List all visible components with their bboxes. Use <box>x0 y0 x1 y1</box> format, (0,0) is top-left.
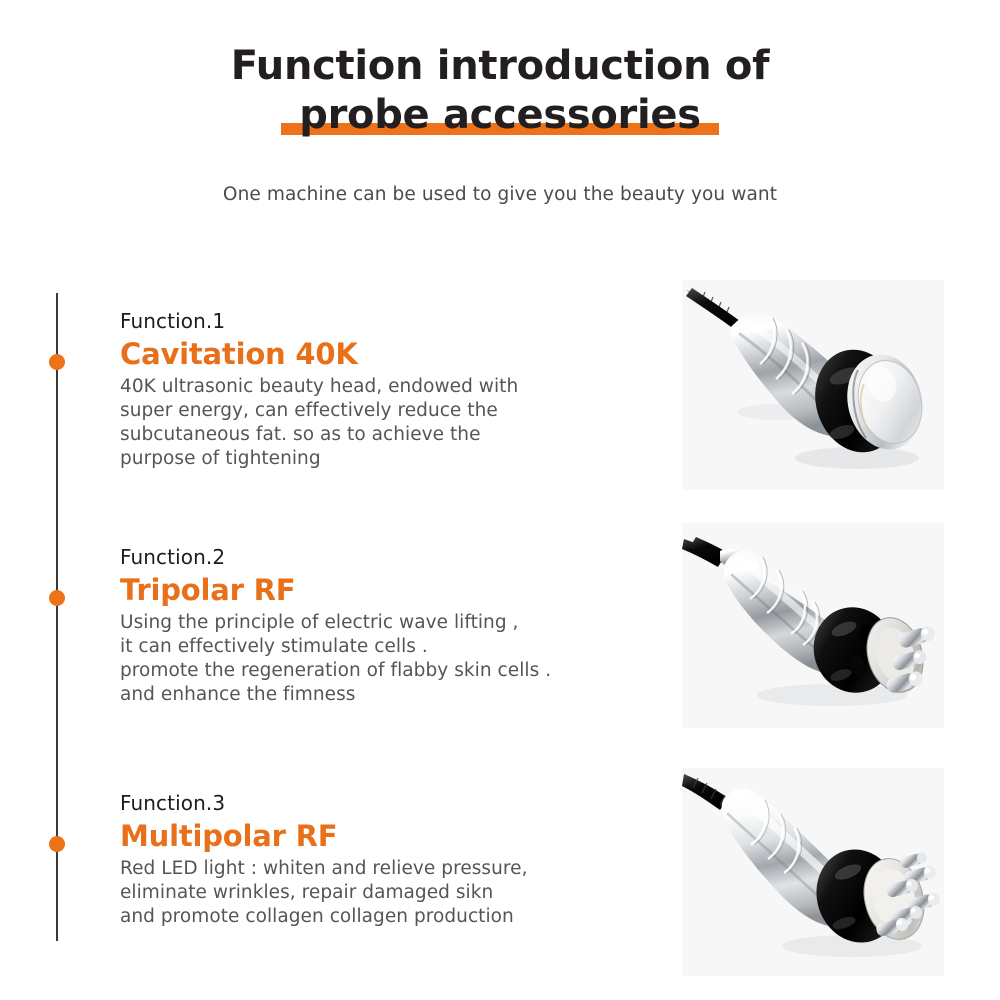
tripolar-rf-probe-icon <box>682 523 944 728</box>
function-2-kicker: Function.2 <box>120 544 665 570</box>
function-block-1: Function.1 Cavitation 40K 40K ultrasonic… <box>120 308 665 471</box>
product-image-card-1 <box>682 280 944 490</box>
timeline-dot-2 <box>49 590 65 606</box>
title-line-2-container: probe accessories <box>0 91 1000 140</box>
function-1-description: 40K ultrasonic beauty head, endowed with… <box>120 375 665 471</box>
product-image-card-3 <box>682 768 944 976</box>
cavitation-40k-probe-icon <box>682 280 944 490</box>
function-3-title: Multipolar RF <box>120 817 665 855</box>
page-title: Function introduction of probe accessori… <box>0 42 1000 140</box>
function-block-2: Function.2 Tripolar RF Using the princip… <box>120 544 665 707</box>
multipolar-rf-probe-icon <box>682 768 944 976</box>
product-image-card-2 <box>682 523 944 728</box>
timeline-dot-3 <box>49 836 65 852</box>
page-subtitle: One machine can be used to give you the … <box>0 184 1000 205</box>
timeline-dot-1 <box>49 354 65 370</box>
function-1-kicker: Function.1 <box>120 308 665 334</box>
function-1-title: Cavitation 40K <box>120 335 665 373</box>
title-line-2: probe accessories <box>299 92 700 138</box>
title-line-1: Function introduction of <box>0 42 1000 91</box>
title-underline-wrapper: probe accessories <box>299 91 700 140</box>
function-2-description: Using the principle of electric wave lif… <box>120 611 665 707</box>
function-2-title: Tripolar RF <box>120 571 665 609</box>
function-3-description: Red LED light : whiten and relieve press… <box>120 857 665 929</box>
function-block-3: Function.3 Multipolar RF Red LED light :… <box>120 790 665 929</box>
function-3-kicker: Function.3 <box>120 790 665 816</box>
